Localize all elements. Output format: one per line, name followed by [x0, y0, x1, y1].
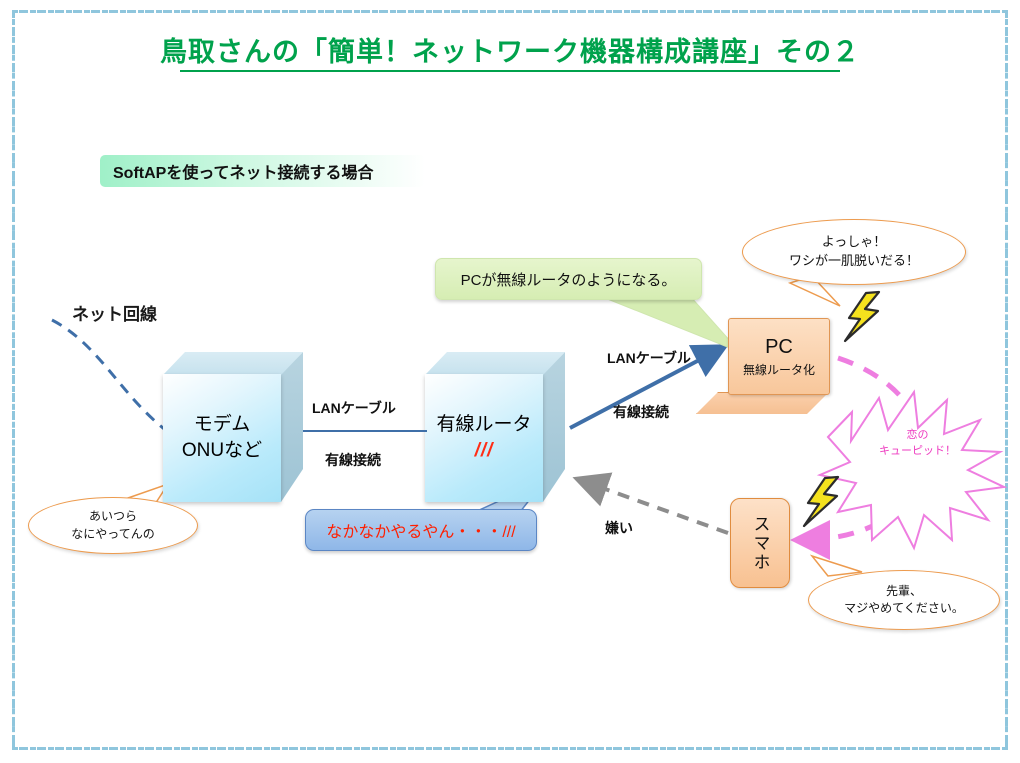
router-blush-mark: ///	[475, 438, 494, 464]
modem-label: モデム ONUなど	[163, 374, 281, 502]
router-label-line1: 有線ルータ	[436, 412, 531, 438]
router-side-face	[543, 352, 565, 502]
router-label: 有線ルータ ///	[425, 374, 543, 502]
bubble-phone-line2: マジやめてください。	[844, 600, 964, 617]
pc-label-line1: PC	[765, 336, 793, 358]
title-underline	[180, 70, 840, 72]
label-lan-cable-left: LANケーブル	[312, 398, 396, 418]
pc-label-line2: 無線ルータ化	[743, 361, 815, 378]
bubble-phone-comment: 先輩、 マジやめてください。	[808, 570, 1000, 630]
label-dislike: 嫌い	[605, 518, 633, 538]
starburst-line1: 恋の	[907, 427, 929, 444]
label-wired-connection-left: 有線接続	[325, 450, 381, 470]
bubble-router-comment: なかなかやるやん・・・///	[305, 509, 537, 551]
page-title: 鳥取さんの「簡単！ネットワーク機器構成講座」その２	[0, 30, 1020, 69]
device-pc[interactable]: PC 無線ルータ化	[728, 318, 828, 393]
green-callout-pointer	[600, 296, 740, 352]
bubble-phone-line1: 先輩、	[886, 583, 922, 600]
bubble-pc-comment: よっしゃ！ ワシが一肌脱いだる！	[742, 219, 966, 285]
starburst-line2: キューピッド！	[879, 443, 956, 460]
modem-top-face	[163, 352, 303, 375]
modem-label-line1: モデム	[194, 412, 251, 438]
modem-label-line2: ONUなど	[182, 438, 262, 464]
device-smartphone[interactable]: スマホ	[730, 498, 790, 588]
bubble-pc-line2: ワシが一肌脱いだる！	[789, 252, 919, 271]
wire-modem-to-router	[303, 430, 427, 432]
arrow-dislike	[580, 480, 728, 533]
modem-side-face	[281, 352, 303, 502]
bubble-modem-line1: あいつら	[89, 508, 137, 525]
slide-canvas: 鳥取さんの「簡単！ネットワーク機器構成講座」その２ SoftAPを使ってネット接…	[0, 0, 1020, 763]
net-line-curve	[52, 320, 168, 432]
pc-screen: PC 無線ルータ化	[728, 318, 830, 395]
bubble-modem-comment: あいつら なにやってんの	[28, 497, 198, 554]
net-line-label: ネット回線	[72, 300, 157, 325]
pc-keyboard-base	[696, 392, 831, 416]
smartphone-label: スマホ	[748, 515, 773, 572]
lightning-bolt-pc	[845, 292, 879, 341]
starburst-cupid-label: 恋の キューピッド！	[815, 388, 1020, 498]
callout-pc-becomes-router: PCが無線ルータのようになる。	[435, 258, 702, 300]
bubble-tail-phone	[812, 556, 862, 576]
label-lan-cable-right: LANケーブル	[607, 348, 691, 368]
subtitle-chip: SoftAPを使ってネット接続する場合	[100, 155, 425, 187]
bubble-pc-line1: よっしゃ！	[822, 233, 887, 252]
label-wired-connection-right: 有線接続	[613, 402, 669, 422]
bubble-modem-line2: なにやってんの	[71, 526, 154, 543]
router-top-face	[425, 352, 565, 375]
